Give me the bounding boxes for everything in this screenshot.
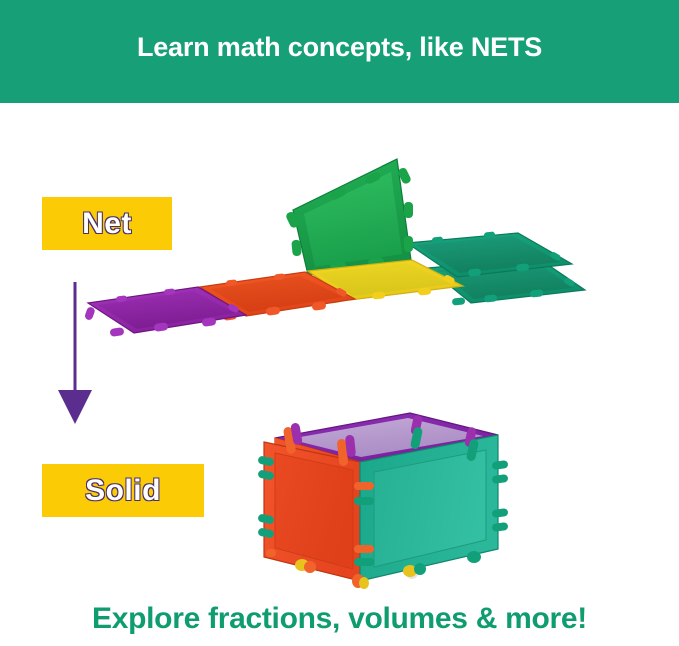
net-label-chip: Net [42, 197, 172, 250]
page-title: Learn math concepts, like NETS [0, 30, 679, 64]
solid-illustration [240, 405, 530, 595]
solid-label-text: Solid [85, 474, 161, 508]
header-banner: Learn math concepts, like NETS [0, 0, 679, 103]
promo-image-canvas: Learn math concepts, like NETS [0, 0, 679, 646]
net-label-text: Net [82, 207, 132, 241]
solid-label-chip: Solid [42, 464, 204, 517]
downward-arrow [54, 280, 96, 426]
tagline-text: Explore fractions, volumes & more! [0, 600, 679, 638]
net-tile-green-upright [285, 158, 413, 275]
